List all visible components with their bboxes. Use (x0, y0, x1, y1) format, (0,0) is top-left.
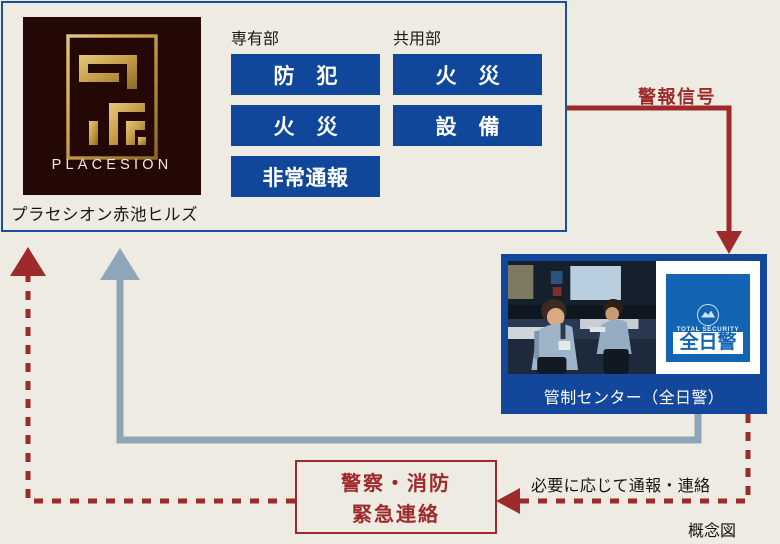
building-name: プラセシオン赤池ヒルズ (11, 201, 198, 225)
tag-common-fire[interactable]: 火災 (393, 54, 542, 95)
zennikkei-tagline: TOTAL SECURITY (666, 326, 750, 333)
control-center-card: TOTAL SECURITY 全日警 管制センター（全日警） (501, 254, 767, 414)
emergency-notify-arrowhead (496, 488, 520, 514)
tag-private-emergency-report[interactable]: 非常通報 (231, 156, 380, 197)
building-panel: PLACESION プラセシオン赤池ヒルズ 専有部 防犯 火災 非常通報 共用部… (1, 1, 567, 232)
alarm-signal-label: 警報信号 (638, 83, 716, 109)
control-center-media: TOTAL SECURITY 全日警 (508, 261, 760, 374)
column-header-private: 専有部 (231, 25, 279, 49)
mountain-circle-emblem-icon (697, 304, 719, 326)
zennikkei-name: 全日警 (672, 331, 743, 355)
zennikkei-badge: TOTAL SECURITY 全日警 (666, 274, 750, 362)
control-room-photo (508, 261, 656, 374)
notify-as-needed-label: 必要に応じて通報・連絡 (531, 472, 710, 496)
monitoring-return-arrowhead (100, 248, 140, 280)
alarm-signal-arrowhead (716, 231, 742, 254)
emergency-line-2: 緊急連絡 (352, 498, 440, 527)
zennikkei-logo: TOTAL SECURITY 全日警 (656, 261, 760, 374)
tag-common-equipment[interactable]: 設備 (393, 105, 542, 146)
emergency-response-line (28, 266, 295, 501)
emergency-line-1: 警察・消防 (341, 467, 451, 496)
figure-caption: 概念図 (688, 517, 736, 541)
control-room-photo-art (508, 261, 656, 374)
tag-private-fire[interactable]: 火災 (231, 105, 380, 146)
diagram-canvas: PLACESION プラセシオン赤池ヒルズ 専有部 防犯 火災 非常通報 共用部… (0, 0, 780, 544)
tag-private-crime-prevention[interactable]: 防犯 (231, 54, 380, 95)
alarm-signal-line (567, 108, 729, 240)
placesion-wordmark: PLACESION (23, 157, 201, 173)
placesion-logo: PLACESION (23, 17, 201, 195)
placesion-maze-emblem-icon (65, 33, 159, 161)
column-header-common: 共用部 (393, 25, 441, 49)
emergency-response-arrowhead (10, 247, 46, 276)
emergency-contact-box: 警察・消防 緊急連絡 (295, 460, 497, 534)
control-center-caption: 管制センター（全日警） (501, 384, 767, 408)
